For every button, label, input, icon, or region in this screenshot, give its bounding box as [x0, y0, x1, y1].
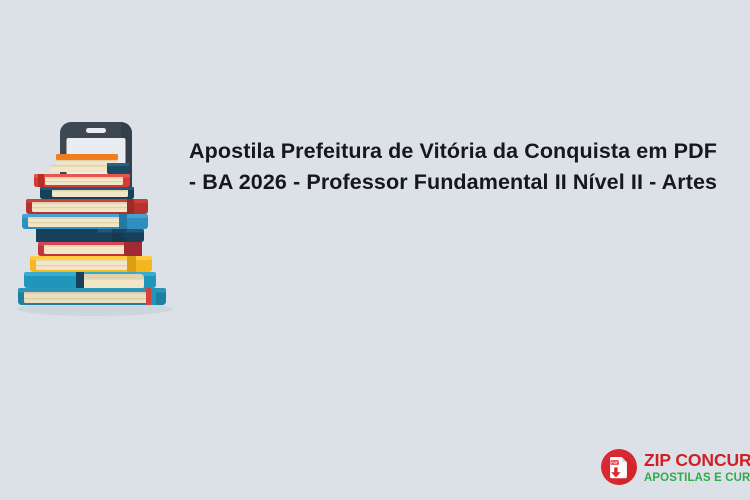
brand-tagline: APOSTILAS E CURSOS	[644, 470, 750, 484]
book-stack-graphic	[18, 154, 166, 305]
stack-of-books-and-smartphone-illustration	[8, 118, 183, 323]
svg-text:PDF: PDF	[611, 461, 619, 465]
promo-banner: Apostila Prefeitura de Vitória da Conqui…	[0, 0, 750, 500]
brand-logo[interactable]: PDF ZIP CONCURSOS APOSTILAS E CURSOS	[600, 448, 750, 486]
pdf-download-icon: PDF	[600, 448, 638, 486]
product-title-block: Apostila Prefeitura de Vitória da Conqui…	[183, 136, 723, 198]
brand-text: ZIP CONCURSOS APOSTILAS E CURSOS	[644, 451, 750, 484]
page-title: Apostila Prefeitura de Vitória da Conqui…	[183, 136, 723, 198]
brand-name: ZIP CONCURSOS	[644, 451, 750, 470]
